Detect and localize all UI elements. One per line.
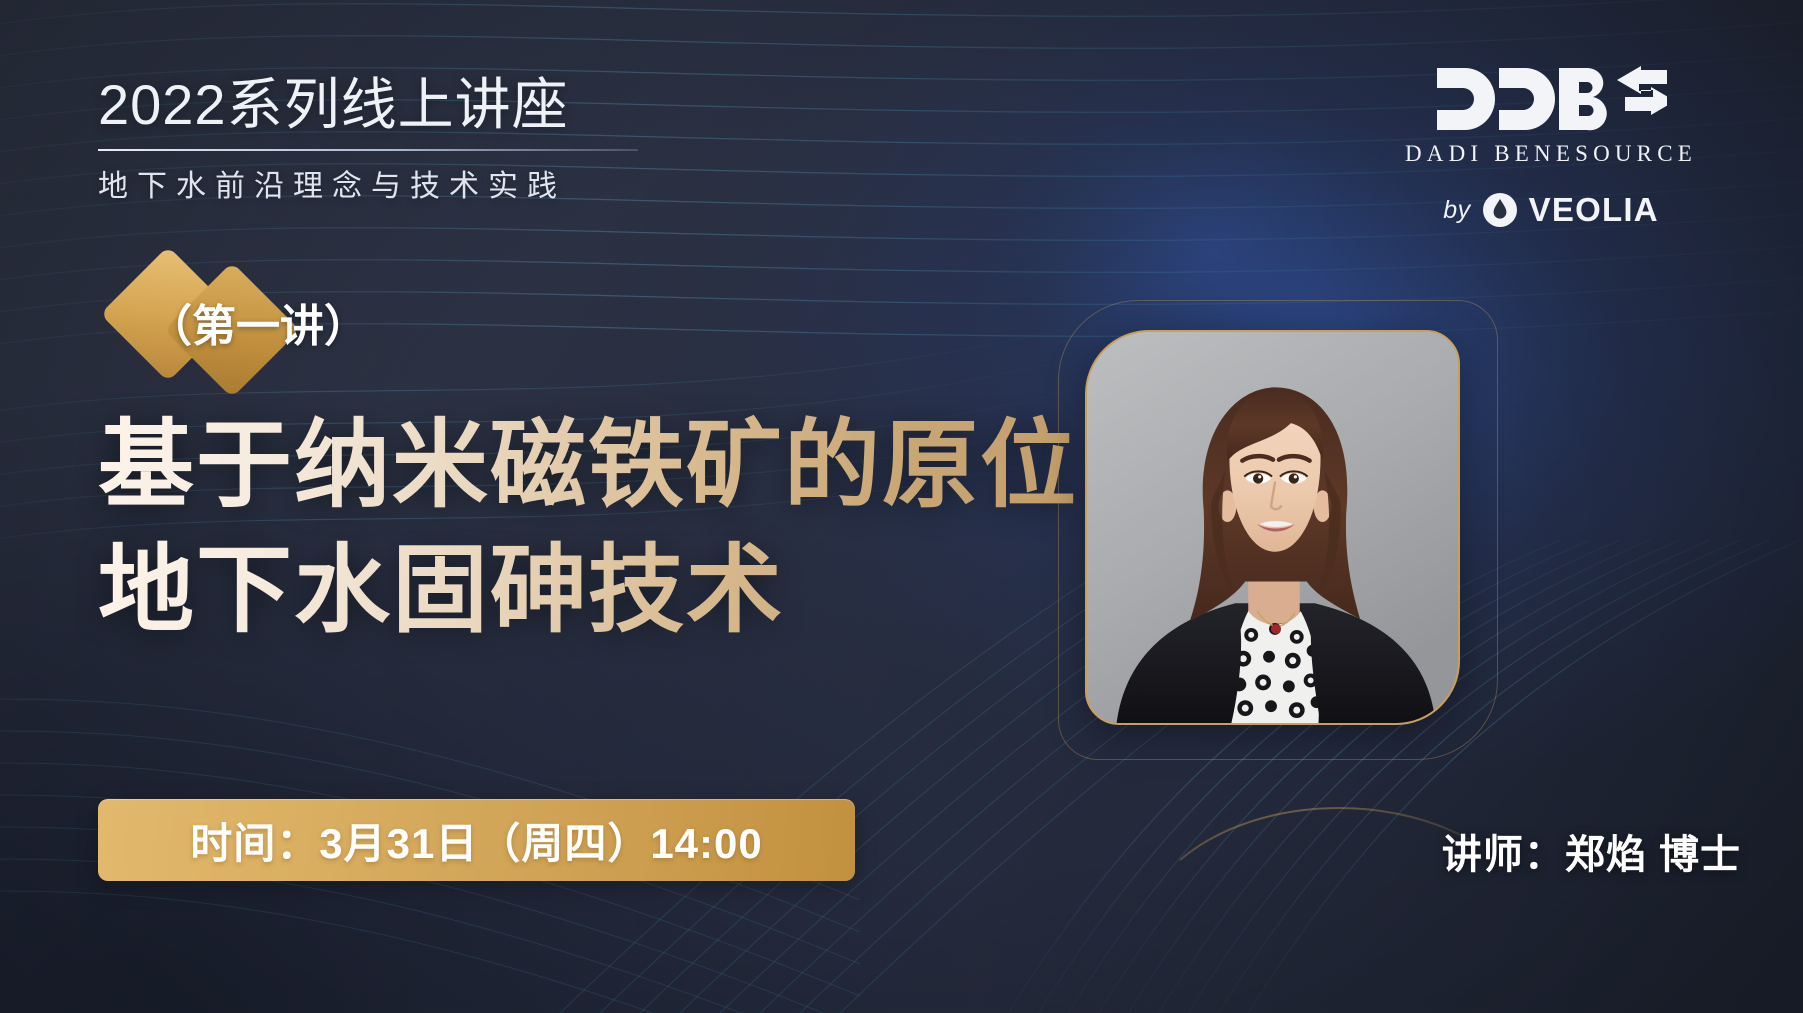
parent-brand-name: VEOLIA	[1529, 191, 1659, 229]
speaker-name-label: 讲师：郑焰 博士	[1442, 822, 1741, 880]
brand-logo: DADI BENESOURCE by VEOLIA	[1371, 66, 1731, 229]
speaker-portrait-image	[1087, 332, 1458, 723]
by-label: by	[1443, 196, 1470, 225]
series-divider	[98, 149, 638, 151]
series-subtitle: 地下水前沿理念与技术实践	[98, 161, 738, 205]
event-time-banner: 时间：3月31日（周四）14:00	[98, 799, 855, 881]
episode-badge-label: （第一讲）	[148, 290, 368, 354]
series-year-title: 2022系列线上讲座	[98, 72, 738, 138]
event-time-label: 时间：3月31日（周四）14:00	[190, 810, 763, 871]
page-title-line-1: 基于纳米磁铁矿的原位	[98, 404, 1078, 529]
parent-brand-line: by VEOLIA	[1371, 191, 1731, 229]
webinar-banner: 2022系列线上讲座 地下水前沿理念与技术实践 DADI BENESOURCE	[0, 0, 1803, 1013]
company-name: DADI BENESOURCE	[1371, 141, 1731, 167]
episode-badge: （第一讲）	[68, 256, 398, 386]
series-header: 2022系列线上讲座 地下水前沿理念与技术实践	[98, 72, 738, 205]
page-title: 基于纳米磁铁矿的原位 地下水固砷技术	[98, 404, 1078, 654]
ddbs-logo-icon	[1435, 66, 1667, 132]
page-title-line-2: 地下水固砷技术	[98, 529, 1078, 654]
veolia-drop-icon	[1482, 192, 1518, 228]
speaker-portrait	[1085, 330, 1460, 725]
